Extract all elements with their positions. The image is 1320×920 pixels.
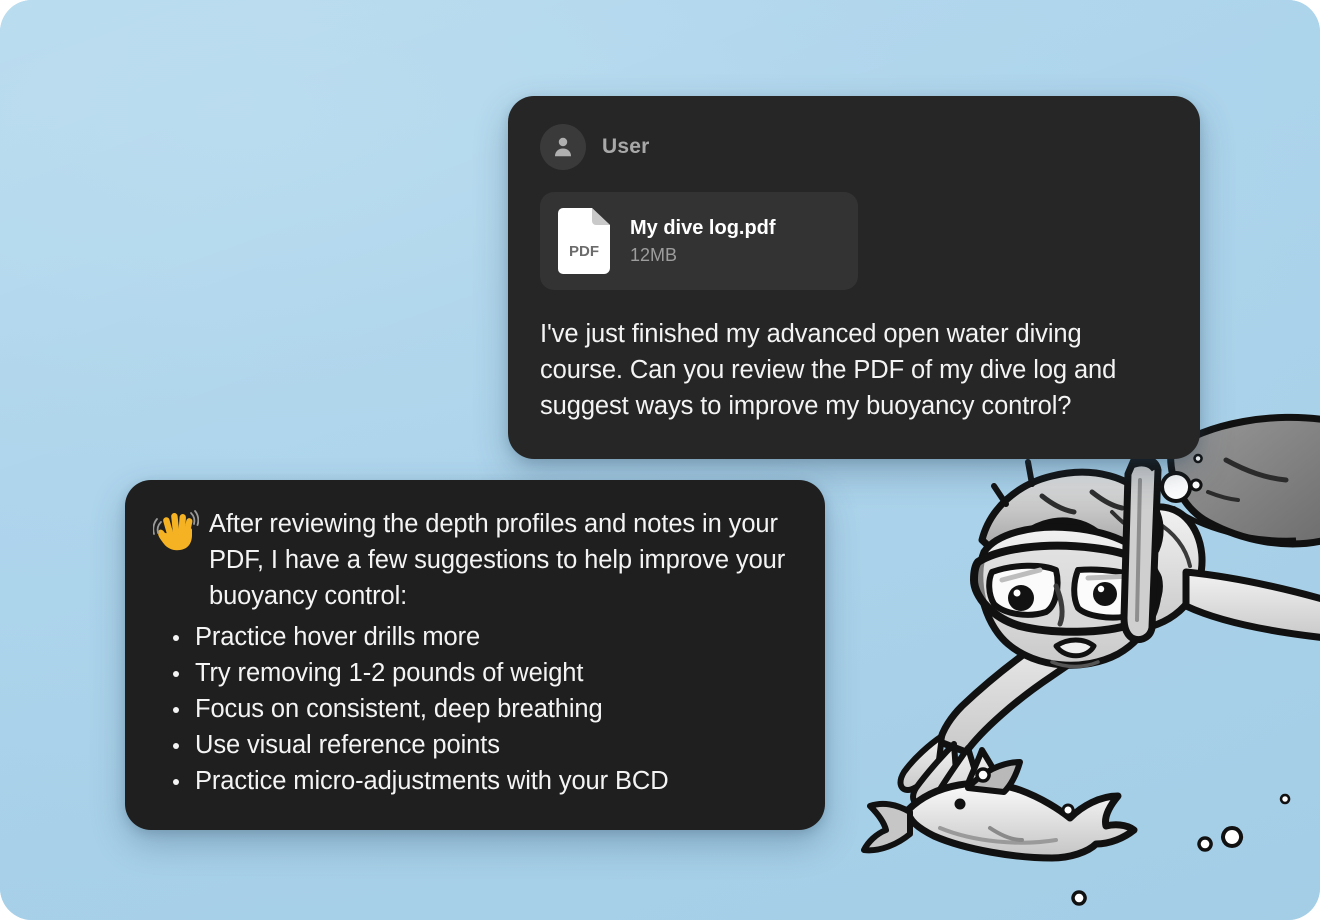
pdf-file-icon: PDF <box>558 208 610 274</box>
chat-scene: User PDF My dive log.pdf 12MB I've just … <box>0 0 1320 920</box>
user-header: User <box>540 124 1164 170</box>
list-item: Try removing 1-2 pounds of weight <box>167 655 795 691</box>
user-role-label: User <box>602 135 650 159</box>
pdf-attachment-card[interactable]: PDF My dive log.pdf 12MB <box>540 192 858 290</box>
assistant-message-bubble: After reviewing the depth profiles and n… <box>125 480 825 830</box>
attachment-meta: My dive log.pdf 12MB <box>630 217 776 266</box>
waving-hand-emoji <box>153 508 199 552</box>
list-item: Practice micro-adjustments with your BCD <box>167 763 795 799</box>
attachment-file-size: 12MB <box>630 245 776 266</box>
assistant-intro-text: After reviewing the depth profiles and n… <box>209 506 795 615</box>
list-item: Focus on consistent, deep breathing <box>167 691 795 727</box>
user-message-text: I've just finished my advanced open wate… <box>540 316 1164 425</box>
user-message-bubble: User PDF My dive log.pdf 12MB I've just … <box>508 96 1200 459</box>
assistant-intro-row: After reviewing the depth profiles and n… <box>153 506 795 615</box>
assistant-suggestion-list: Practice hover drills more Try removing … <box>153 619 795 800</box>
person-avatar-icon <box>540 124 586 170</box>
list-item: Practice hover drills more <box>167 619 795 655</box>
svg-text:PDF: PDF <box>569 243 599 260</box>
attachment-file-name: My dive log.pdf <box>630 217 776 240</box>
list-item: Use visual reference points <box>167 727 795 763</box>
